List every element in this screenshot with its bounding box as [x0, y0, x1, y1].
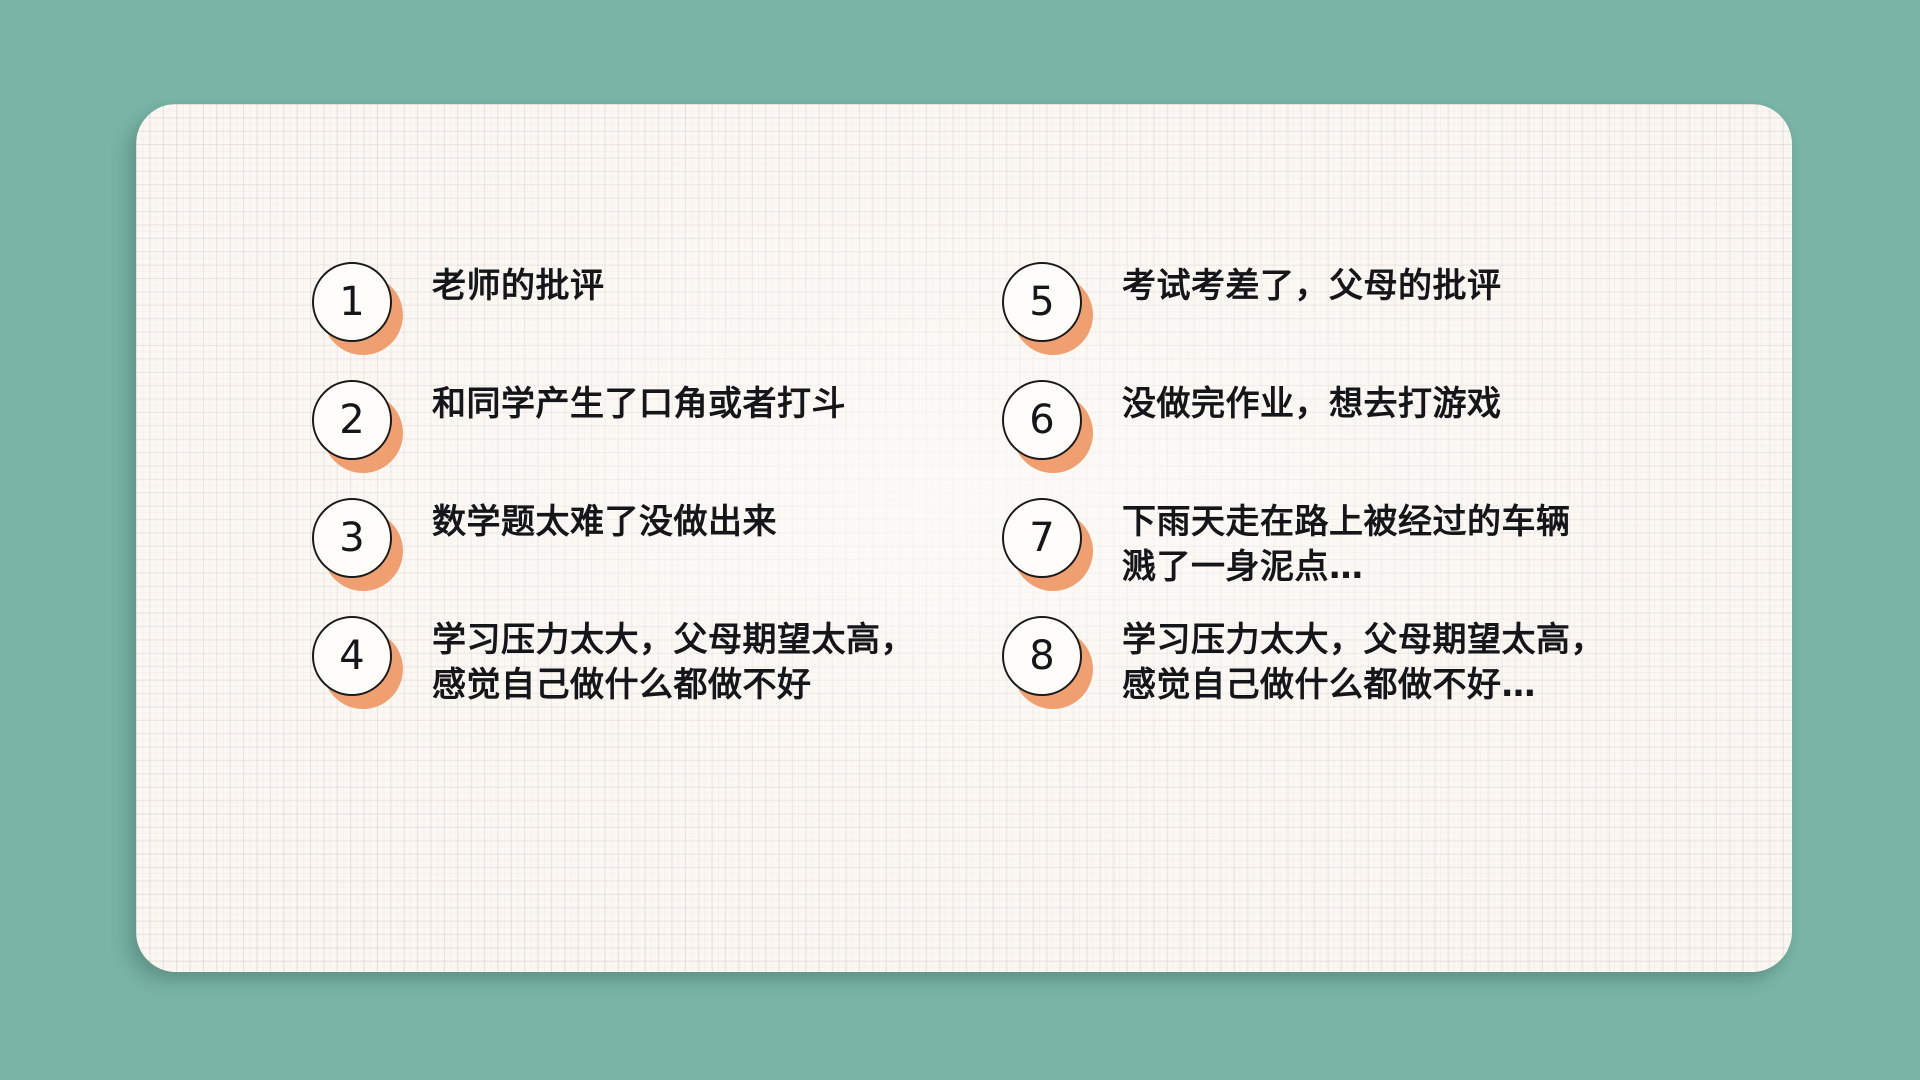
list-item[interactable]: 2 和同学产生了口角或者打斗 [224, 372, 978, 490]
badge-circle: 2 [312, 380, 392, 460]
list-item[interactable]: 5 考试考差了，父母的批评 [978, 254, 1732, 372]
badge-number: 7 [1029, 518, 1054, 558]
list-item-label: 没做完作业，想去打游戏 [1122, 382, 1502, 427]
list-item[interactable]: 8 学习压力太大，父母期望太高， 感觉自己做什么都做不好… [978, 608, 1732, 726]
badge-circle: 3 [312, 498, 392, 578]
list-item[interactable]: 1 老师的批评 [224, 254, 978, 372]
badge-number: 4 [339, 636, 364, 676]
number-badge: 3 [312, 498, 398, 584]
badge-circle: 8 [1002, 616, 1082, 696]
list-item[interactable]: 3 数学题太难了没做出来 [224, 490, 978, 608]
left-column: 1 老师的批评 2 和同学产生了口角或者打斗 [224, 254, 978, 852]
number-badge: 6 [1002, 380, 1088, 466]
number-badge: 2 [312, 380, 398, 466]
badge-circle: 5 [1002, 262, 1082, 342]
numbered-list: 1 老师的批评 2 和同学产生了口角或者打斗 [136, 104, 1792, 972]
badge-circle: 7 [1002, 498, 1082, 578]
list-item-label: 数学题太难了没做出来 [432, 500, 777, 545]
badge-circle: 6 [1002, 380, 1082, 460]
number-badge: 4 [312, 616, 398, 702]
list-item[interactable]: 6 没做完作业，想去打游戏 [978, 372, 1732, 490]
list-item[interactable]: 7 下雨天走在路上被经过的车辆 溅了一身泥点… [978, 490, 1732, 608]
number-badge: 5 [1002, 262, 1088, 348]
list-item-label: 学习压力太大，父母期望太高， 感觉自己做什么都做不好… [1122, 618, 1605, 708]
badge-number: 8 [1029, 636, 1054, 676]
number-badge: 8 [1002, 616, 1088, 702]
badge-number: 6 [1029, 400, 1054, 440]
slide-canvas: 1 老师的批评 2 和同学产生了口角或者打斗 [0, 0, 1920, 1080]
right-column: 5 考试考差了，父母的批评 6 没做完作业，想去打游戏 [978, 254, 1732, 852]
badge-circle: 1 [312, 262, 392, 342]
list-item-label: 下雨天走在路上被经过的车辆 溅了一身泥点… [1122, 500, 1571, 590]
badge-circle: 4 [312, 616, 392, 696]
badge-number: 1 [339, 282, 364, 322]
number-badge: 7 [1002, 498, 1088, 584]
badge-number: 2 [339, 400, 364, 440]
paper-card: 1 老师的批评 2 和同学产生了口角或者打斗 [136, 104, 1792, 972]
list-item-label: 老师的批评 [432, 264, 605, 309]
badge-number: 5 [1029, 282, 1054, 322]
number-badge: 1 [312, 262, 398, 348]
list-item-label: 考试考差了，父母的批评 [1122, 264, 1502, 309]
list-item-label: 学习压力太大，父母期望太高， 感觉自己做什么都做不好 [432, 618, 915, 708]
badge-number: 3 [339, 518, 364, 558]
list-item-label: 和同学产生了口角或者打斗 [432, 382, 846, 427]
list-item[interactable]: 4 学习压力太大，父母期望太高， 感觉自己做什么都做不好 [224, 608, 978, 726]
